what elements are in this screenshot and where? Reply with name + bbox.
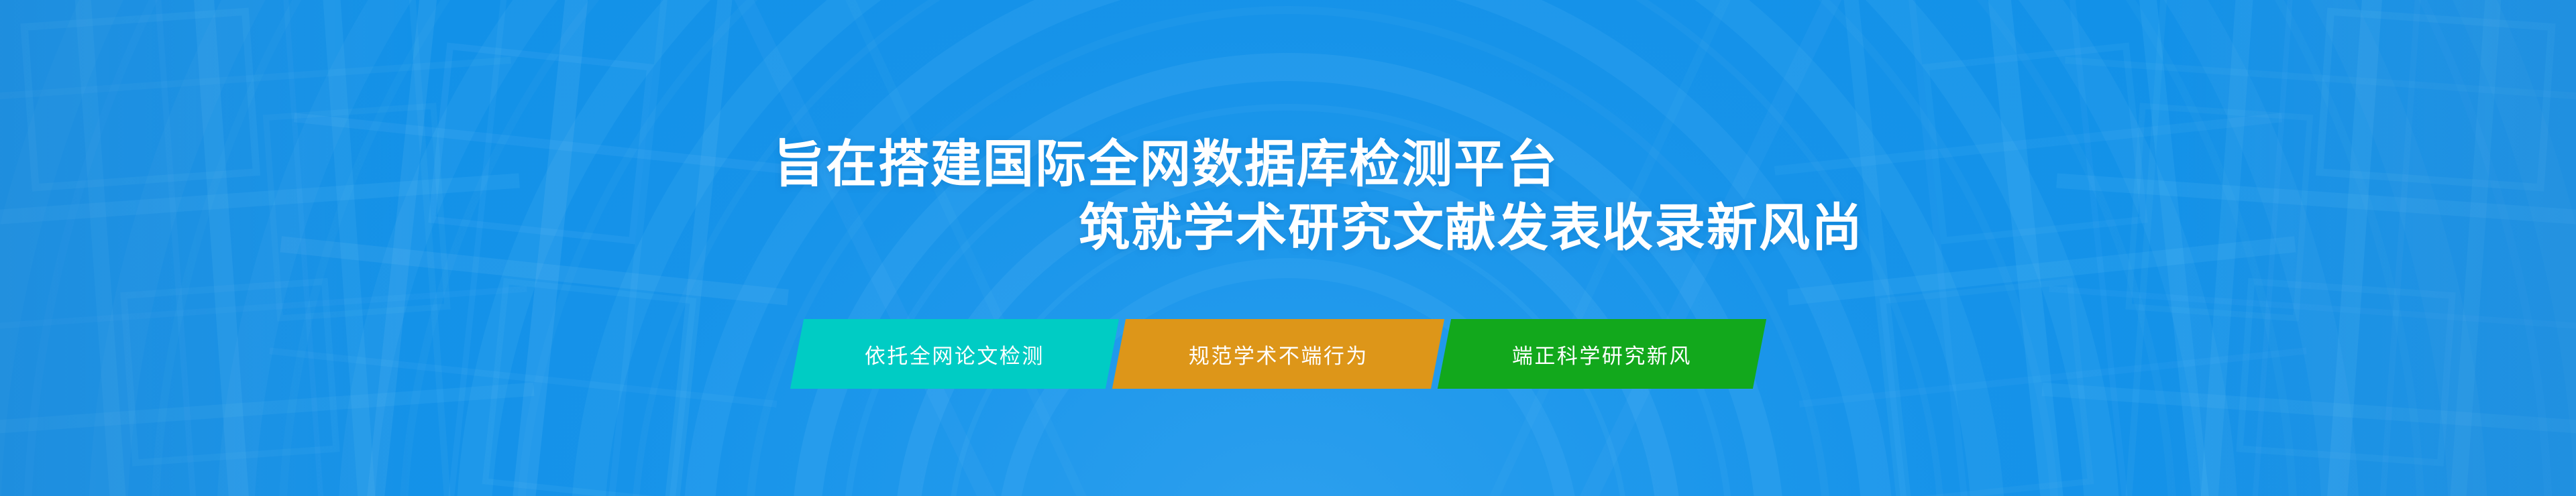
promo-banner: 旨在搭建国际全网数据库检测平台 筑就学术研究文献发表收录新风尚 依托全网论文检测… xyxy=(0,0,2576,496)
feature-badge-integrity-label: 端正科学研究新风 xyxy=(1512,339,1692,369)
feature-badge-misconduct-label: 规范学术不端行为 xyxy=(1189,339,1368,369)
feature-badge-detection[interactable]: 依托全网论文检测 xyxy=(790,319,1119,389)
feature-badge-detection-label: 依托全网论文检测 xyxy=(865,339,1044,369)
feature-badge-integrity[interactable]: 端正科学研究新风 xyxy=(1438,319,1766,389)
headline-group: 旨在搭建国际全网数据库检测平台 筑就学术研究文献发表收录新风尚 xyxy=(0,0,2576,496)
feature-badge-misconduct[interactable]: 规范学术不端行为 xyxy=(1112,319,1444,389)
headline-line-1: 旨在搭建国际全网数据库检测平台 xyxy=(773,136,1558,194)
feature-badge-strip: 依托全网论文检测 规范学术不端行为 端正科学研究新风 xyxy=(778,319,1811,389)
headline-line-2: 筑就学术研究文献发表收录新风尚 xyxy=(1079,200,1864,257)
